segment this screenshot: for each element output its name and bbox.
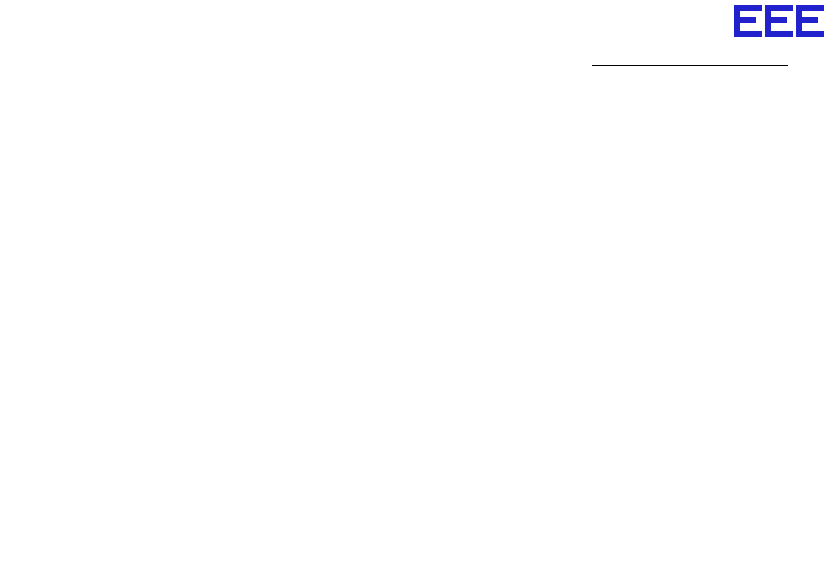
stats-title	[592, 64, 788, 66]
eee-logo	[734, 2, 830, 40]
eee-letters-icon	[734, 4, 824, 38]
plot-canvas	[0, 0, 836, 572]
canvas-background	[0, 0, 836, 572]
y-axis-tick-labels	[0, 0, 98, 572]
stats-box	[592, 64, 788, 67]
